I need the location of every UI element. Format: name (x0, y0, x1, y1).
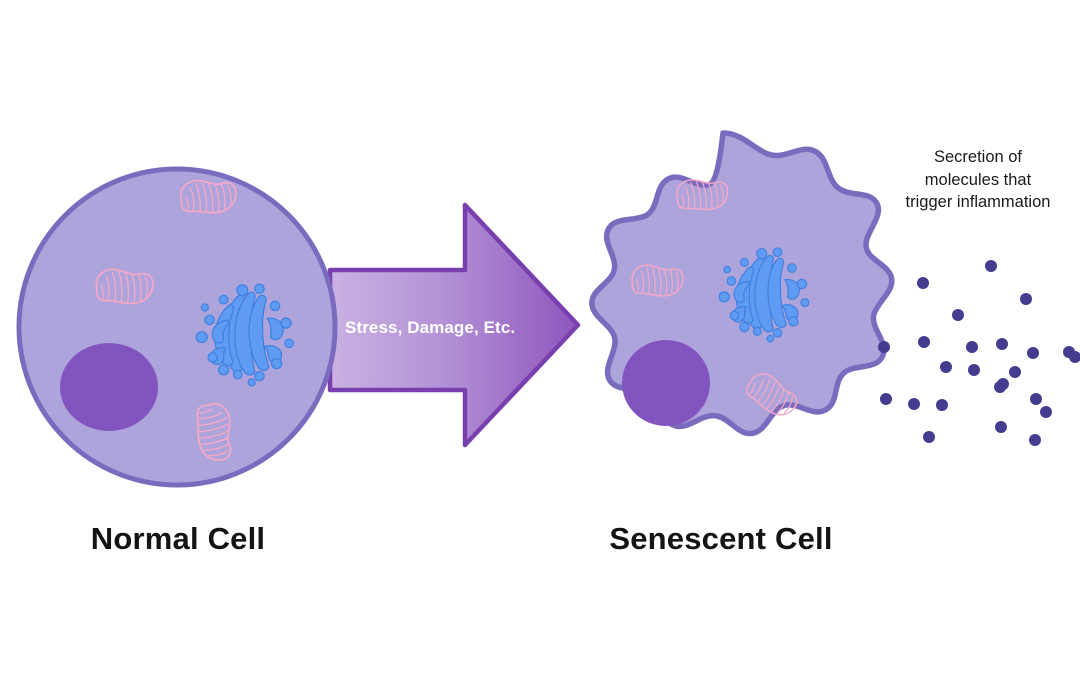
secreted-molecule-dot (1063, 346, 1075, 358)
transition-arrow (330, 205, 578, 445)
secreted-molecule-dot (1009, 366, 1021, 378)
secretion-caption-line-1: Secretion of (876, 146, 1080, 169)
secreted-molecule-dot (1029, 434, 1041, 446)
secreted-molecules (878, 260, 1080, 446)
secreted-molecule-dot (878, 341, 890, 353)
senescent-cell-nucleus (622, 340, 710, 426)
secreted-molecule-dot (917, 277, 929, 289)
secreted-molecule-dot (985, 260, 997, 272)
secreted-molecule-dot (995, 421, 1007, 433)
normal-cell-nucleus (60, 343, 158, 431)
secreted-molecule-dot (908, 398, 920, 410)
secreted-molecule-dot (968, 364, 980, 376)
secreted-molecule-dot (918, 336, 930, 348)
secretion-caption-line-3: trigger inflammation (876, 191, 1080, 214)
normal-cell-label: Normal Cell (0, 521, 356, 557)
secretion-caption-line-2: molecules that (876, 169, 1080, 192)
secreted-molecule-dot (966, 341, 978, 353)
secreted-molecule-dot (994, 381, 1006, 393)
secreted-molecule-dot (940, 361, 952, 373)
secreted-molecule-dot (880, 393, 892, 405)
secretion-caption: Secretion of molecules that trigger infl… (876, 146, 1080, 214)
secreted-molecule-dot (952, 309, 964, 321)
secreted-molecule-dot (1040, 406, 1052, 418)
senescence-diagram: Normal Cell Senescent Cell Stress, Damag… (0, 0, 1080, 675)
arrow-shape (330, 205, 578, 445)
diagram-canvas (0, 0, 1080, 675)
secreted-molecule-dot (1030, 393, 1042, 405)
senescent-cell-label: Senescent Cell (548, 521, 894, 557)
secreted-molecule-dot (1020, 293, 1032, 305)
secreted-molecule-dot (1027, 347, 1039, 359)
normal-cell (19, 169, 335, 485)
secreted-molecule-dot (923, 431, 935, 443)
secreted-molecule-dot (996, 338, 1008, 350)
secreted-molecule-dot (936, 399, 948, 411)
senescent-cell (592, 133, 892, 434)
